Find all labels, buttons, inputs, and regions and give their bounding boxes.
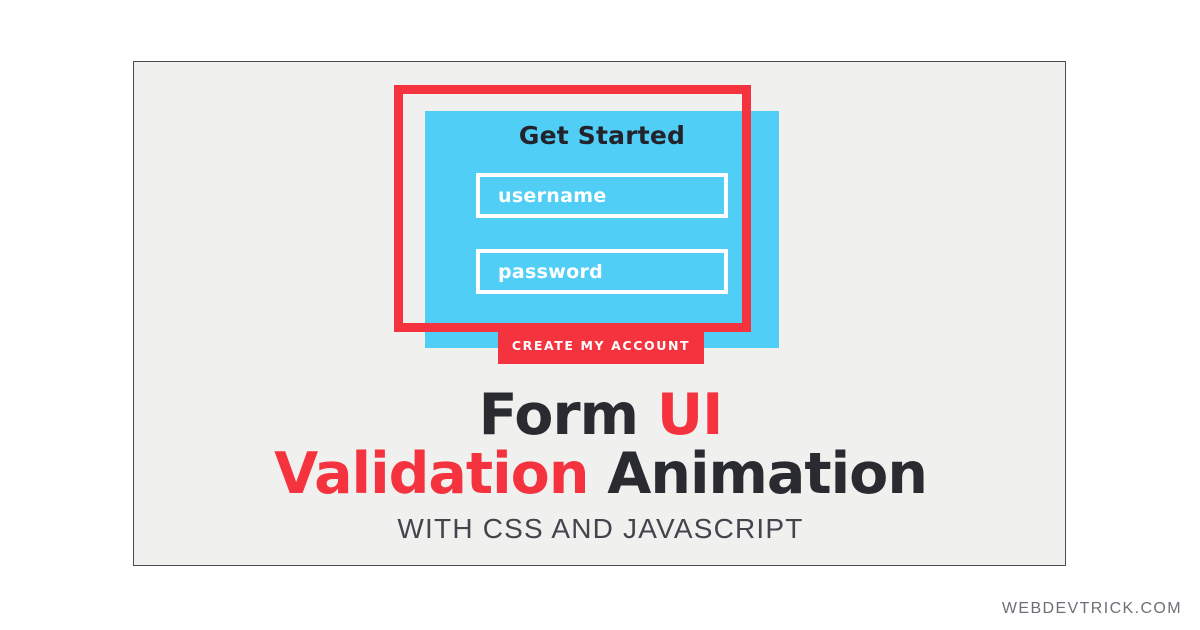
headline-word-form: Form [479, 382, 638, 448]
headline-subtitle: WITH CSS AND JAVASCRIPT [134, 513, 1067, 545]
hero-panel: Get Started username password CREATE MY … [133, 61, 1066, 566]
headline-word-ui: UI [657, 382, 723, 448]
create-account-button[interactable]: CREATE MY ACCOUNT [498, 327, 704, 364]
validation-highlight-frame [394, 85, 751, 332]
headline-line-1: Form UI [134, 387, 1067, 444]
form-mockup: Get Started username password CREATE MY … [134, 62, 1067, 382]
headline-word-validation: Validation [274, 441, 588, 507]
site-watermark: WEBDEVTRICK.COM [1002, 600, 1182, 618]
headline-line-2: Validation Animation [134, 446, 1067, 503]
headline-word-animation: Animation [607, 441, 927, 507]
create-account-button-label: CREATE MY ACCOUNT [512, 338, 690, 353]
headline-block: Form UI Validation Animation WITH CSS AN… [134, 387, 1067, 545]
